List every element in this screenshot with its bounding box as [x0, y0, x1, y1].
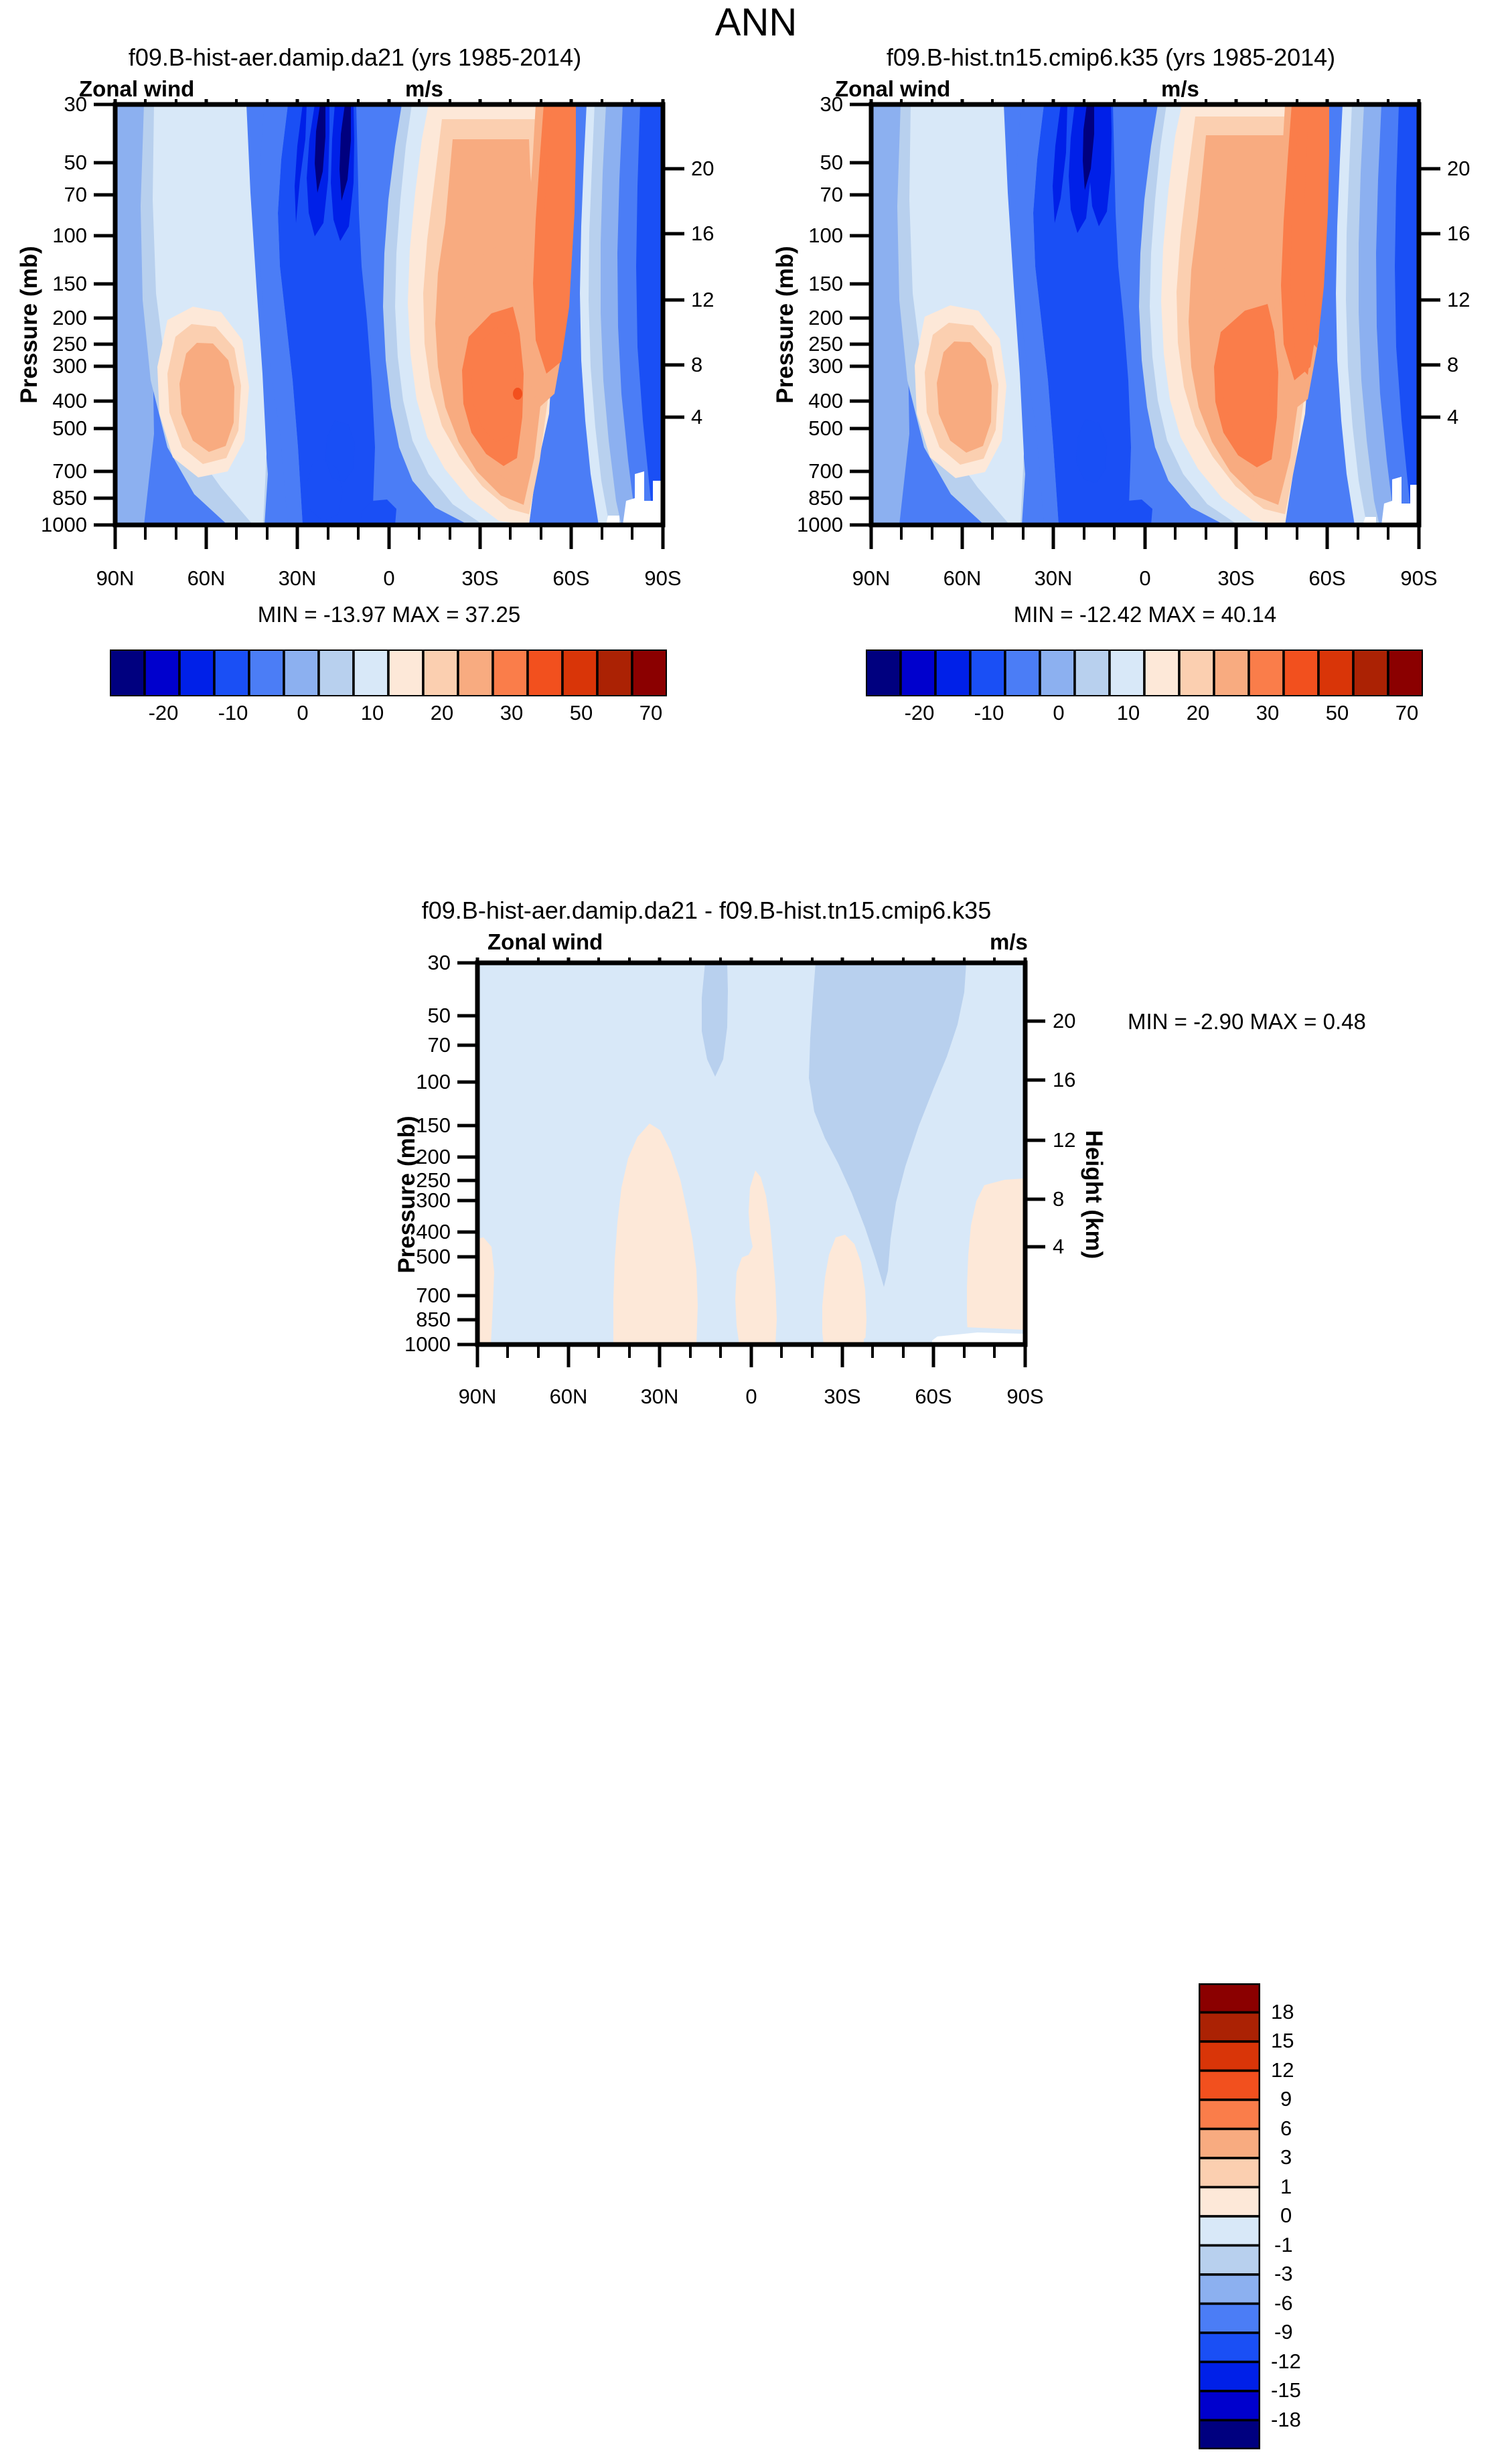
tick-label: 12 — [1053, 1130, 1075, 1151]
tick-label: 1000 — [41, 514, 87, 536]
tick-label: 250 — [808, 333, 843, 355]
tick-label: 20 — [691, 158, 714, 179]
panel-right-title: f09.B-hist.tn15.cmip6.k35 (yrs 1985-2014… — [756, 44, 1466, 71]
tick-label: 700 — [52, 461, 87, 482]
panel-left-title: f09.B-hist-aer.damip.da21 (yrs 1985-2014… — [0, 44, 710, 71]
panel-right-bottom-ticks — [871, 525, 1419, 549]
tick-label: 60N — [535, 1386, 602, 1407]
tick-label: 50 — [820, 152, 843, 173]
tick-label: 8 — [1447, 354, 1458, 376]
tick-label: 90S — [992, 1386, 1059, 1407]
cb-label: -3 — [1274, 2263, 1293, 2285]
tick-label: 300 — [52, 356, 87, 377]
panel-left: f09.B-hist-aer.damip.da21 (yrs 1985-2014… — [0, 40, 756, 911]
tick-label: 60S — [1294, 568, 1361, 589]
cb-label: 10 — [355, 702, 390, 724]
colorbar-vertical-diff[interactable] — [1199, 1983, 1260, 2449]
cb-label: 12 — [1271, 2059, 1294, 2082]
cb-label: 9 — [1280, 2088, 1292, 2111]
cb-label: 3 — [1280, 2146, 1292, 2169]
cb-label: 50 — [564, 702, 599, 724]
contour-field-left — [115, 104, 663, 525]
cb-label: 50 — [1320, 702, 1355, 724]
tick-label: 60N — [929, 568, 996, 589]
tick-label: 12 — [691, 289, 714, 311]
cb-label: 0 — [285, 702, 320, 724]
tick-label: 100 — [416, 1071, 451, 1093]
tick-label: 500 — [808, 418, 843, 439]
tick-label: 12 — [1447, 289, 1470, 311]
tick-label: 500 — [416, 1246, 451, 1268]
tick-label: 200 — [416, 1146, 451, 1168]
tick-label: 60S — [538, 568, 605, 589]
tick-label: 30N — [264, 568, 331, 589]
tick-label: 30 — [64, 94, 87, 115]
tick-label: 0 — [356, 568, 423, 589]
cb-label: 20 — [425, 702, 459, 724]
contour-field-diff — [477, 963, 1025, 1393]
panel-left-minmax: MIN = -13.97 MAX = 37.25 — [115, 603, 663, 627]
tick-label: 30N — [1020, 568, 1087, 589]
panel-diff-units-label: m/s — [990, 930, 1028, 954]
tick-label: 200 — [52, 307, 87, 329]
tick-label: 1000 — [797, 514, 843, 536]
tick-label: 16 — [691, 223, 714, 244]
tick-label: 30S — [809, 1386, 876, 1407]
cb-label: 70 — [1389, 702, 1424, 724]
cb-label: 70 — [633, 702, 668, 724]
tick-label: 70 — [820, 184, 843, 206]
panel-diff-minmax: MIN = -2.90 MAX = 0.48 — [1128, 1010, 1366, 1034]
tick-label: 400 — [808, 390, 843, 412]
panel-right-variable-label: Zonal wind — [835, 77, 950, 101]
panel-right: f09.B-hist.tn15.cmip6.k35 (yrs 1985-2014… — [756, 40, 1512, 911]
cb-label: -20 — [902, 702, 937, 724]
tick-label: 150 — [416, 1115, 451, 1136]
panel-right-height-ticks — [1419, 169, 1440, 417]
cb-label: -12 — [1271, 2350, 1301, 2373]
colorbar-horizontal-left[interactable] — [110, 649, 667, 696]
tick-label: 850 — [416, 1309, 451, 1330]
colorbar-vertical-diff-labels: 18 15 12 9 6 3 1 0 -1 -3 -6 -9 -12 -15 -… — [1271, 1983, 1351, 2452]
cb-label: 30 — [1250, 702, 1285, 724]
cb-label: 0 — [1041, 702, 1076, 724]
colorbar-horizontal-right[interactable] — [866, 649, 1423, 696]
tick-label: 16 — [1053, 1069, 1075, 1091]
tick-label: 60N — [173, 568, 240, 589]
tick-label: 300 — [416, 1190, 451, 1211]
cb-label: 10 — [1111, 702, 1146, 724]
tick-label: 60S — [900, 1386, 967, 1407]
tick-label: 30S — [1203, 568, 1270, 589]
panel-right-units-label: m/s — [1161, 77, 1199, 101]
cb-label: -6 — [1274, 2292, 1293, 2315]
contour-field-right — [871, 104, 1419, 525]
cb-label: -9 — [1274, 2321, 1293, 2344]
tick-label: 100 — [808, 225, 843, 246]
tick-label: 0 — [1112, 568, 1179, 589]
tick-label: 8 — [1053, 1189, 1064, 1210]
tick-label: 30S — [447, 568, 514, 589]
tick-label: 50 — [64, 152, 87, 173]
cb-label: 6 — [1280, 2117, 1292, 2140]
tick-label: 0 — [718, 1386, 785, 1407]
panel-diff-height-ticks — [1025, 1021, 1045, 1247]
colorbar-horizontal-left-labels: -20 -10 0 10 20 30 50 70 — [110, 702, 667, 729]
cb-label: -1 — [1274, 2234, 1293, 2256]
tick-label: 30N — [626, 1386, 693, 1407]
cb-label: 1 — [1280, 2175, 1292, 2198]
panel-diff-variable-label: Zonal wind — [487, 930, 603, 954]
tick-label: 30 — [428, 952, 451, 974]
page-title: ANN — [0, 1, 1512, 44]
cb-label: 18 — [1271, 2001, 1294, 2023]
tick-label: 300 — [808, 356, 843, 377]
tick-label: 100 — [52, 225, 87, 246]
panel-diff-title: f09.B-hist-aer.damip.da21 - f09.B-hist.t… — [0, 897, 1413, 924]
tick-label: 90S — [629, 568, 696, 589]
tick-label: 400 — [416, 1221, 451, 1243]
tick-label: 500 — [52, 418, 87, 439]
tick-label: 4 — [1447, 406, 1458, 428]
cb-label: 20 — [1181, 702, 1215, 724]
cb-label: 15 — [1271, 2029, 1294, 2052]
colorbar-horizontal-right-labels: -20 -10 0 10 20 30 50 70 — [866, 702, 1423, 729]
cb-label: 0 — [1280, 2204, 1292, 2227]
tick-label: 700 — [808, 461, 843, 482]
tick-label: 20 — [1447, 158, 1470, 179]
tick-label: 90N — [838, 568, 905, 589]
panel-left-height-ticks — [663, 169, 684, 417]
tick-label: 1000 — [404, 1334, 451, 1355]
tick-label: 20 — [1053, 1010, 1075, 1032]
panel-left-variable-label: Zonal wind — [79, 77, 194, 101]
tick-label: 4 — [691, 406, 702, 428]
tick-label: 70 — [64, 184, 87, 206]
panel-left-pressure-ticks — [94, 104, 115, 525]
tick-label: 400 — [52, 390, 87, 412]
cb-label: -10 — [972, 702, 1006, 724]
tick-label: 50 — [428, 1005, 451, 1026]
panel-diff-bottom-ticks — [477, 1345, 1025, 1367]
tick-label: 200 — [808, 307, 843, 329]
tick-label: 150 — [52, 273, 87, 295]
panel-right-pressure-ticks — [850, 104, 871, 525]
panel-right-minmax: MIN = -12.42 MAX = 40.14 — [871, 603, 1419, 627]
panel-diff-pressure-ticks — [457, 963, 477, 1345]
tick-label: 850 — [52, 487, 87, 509]
tick-label: 250 — [52, 333, 87, 355]
tick-label: 90S — [1385, 568, 1452, 589]
tick-label: 8 — [691, 354, 702, 376]
cb-label: -20 — [146, 702, 181, 724]
tick-label: 150 — [808, 273, 843, 295]
panel-left-units-label: m/s — [405, 77, 443, 101]
panel-diff: f09.B-hist-aer.damip.da21 - f09.B-hist.t… — [0, 891, 1512, 1584]
tick-label: 4 — [1053, 1236, 1064, 1257]
panel-left-bottom-ticks — [115, 525, 663, 549]
tick-label: 700 — [416, 1285, 451, 1306]
tick-label: 30 — [820, 94, 843, 115]
cb-label: 30 — [494, 702, 529, 724]
panel-left-plot — [0, 99, 756, 581]
cb-label: -10 — [216, 702, 250, 724]
panel-right-plot — [756, 99, 1512, 581]
tick-label: 70 — [428, 1035, 451, 1056]
tick-label: 850 — [808, 487, 843, 509]
cb-label: -18 — [1271, 2408, 1301, 2431]
tick-label: 90N — [82, 568, 149, 589]
cb-label: -15 — [1271, 2379, 1301, 2402]
tick-label: 16 — [1447, 223, 1470, 244]
tick-label: 90N — [444, 1386, 511, 1407]
